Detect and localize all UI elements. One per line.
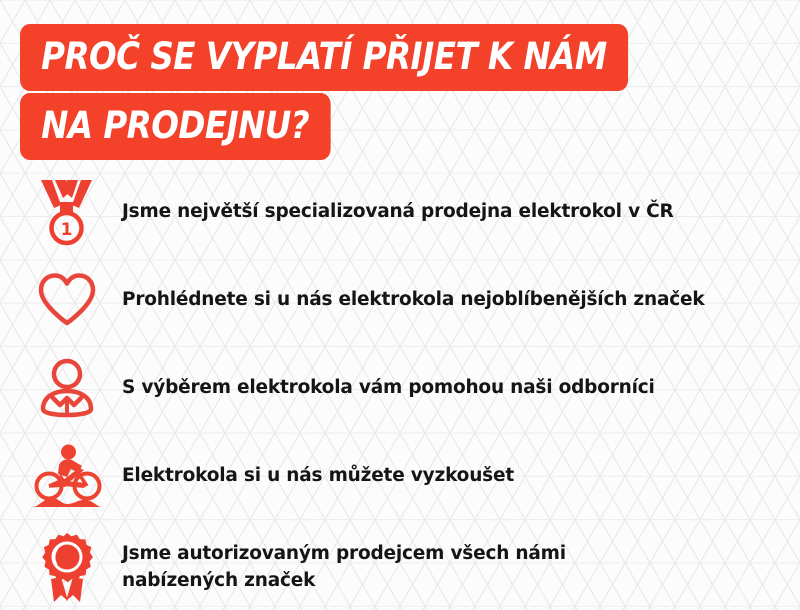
person-expert-icon xyxy=(28,349,106,427)
benefit-row-5: Jsme autorizovaným prodejcem všech námi … xyxy=(0,520,800,610)
benefit-text-4: Elektrokola si u nás můžete vyzkoušet xyxy=(106,463,514,490)
mountain-biker-icon xyxy=(28,437,106,515)
benefit-text-5: Jsme autorizovaným prodejcem všech námi … xyxy=(106,541,566,595)
headline-line-1: PROČ SE VYPLATÍ PŘIJET K NÁM xyxy=(20,24,711,84)
benefit-row-1: 1 Jsme největší specializovaná prodejna … xyxy=(0,168,800,256)
headline-bar-1: PROČ SE VYPLATÍ PŘIJET K NÁM xyxy=(20,24,628,91)
benefit-text-2: Prohlédnete si u nás elektrokola nejoblí… xyxy=(106,287,704,314)
medal-first-place-icon: 1 xyxy=(28,173,106,251)
award-rosette-icon xyxy=(28,529,106,607)
poster-canvas: PROČ SE VYPLATÍ PŘIJET K NÁM NA PRODEJNU… xyxy=(0,0,800,610)
benefit-row-3: S výběrem elektrokola vám pomohou naši o… xyxy=(0,344,800,432)
benefits-list: 1 Jsme největší specializovaná prodejna … xyxy=(0,168,800,610)
headline-line-2: NA PRODEJNU? xyxy=(20,93,373,153)
benefit-row-2: Prohlédnete si u nás elektrokola nejoblí… xyxy=(0,256,800,344)
headline-bar-2: NA PRODEJNU? xyxy=(20,93,330,160)
benefit-text-3: S výběrem elektrokola vám pomohou naši o… xyxy=(106,375,655,402)
benefit-row-4: Elektrokola si u nás můžete vyzkoušet xyxy=(0,432,800,520)
benefit-text-1: Jsme největší specializovaná prodejna el… xyxy=(106,199,674,226)
heart-icon xyxy=(28,261,106,339)
medal-number: 1 xyxy=(61,220,73,240)
